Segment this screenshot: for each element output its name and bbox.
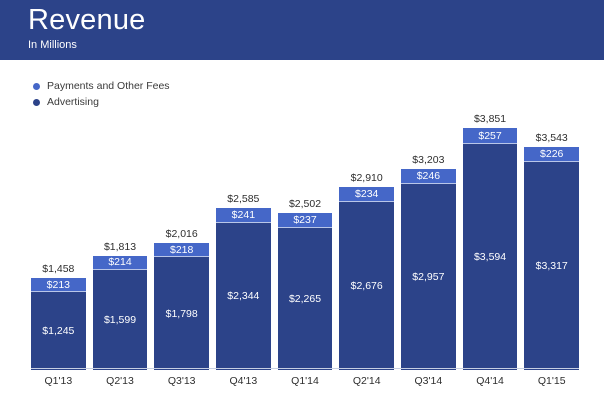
x-axis-tick-label: Q3'14 (401, 371, 456, 391)
bar-column[interactable]: $3,851$257$3,594 (463, 112, 518, 370)
dot-icon (33, 99, 40, 106)
bar-column[interactable]: $3,543$226$3,317 (524, 112, 579, 370)
chart-plot-area: $1,458$213$1,245$1,813$214$1,599$2,016$2… (0, 112, 604, 370)
chart-header: Revenue In Millions (0, 0, 604, 60)
bar-column[interactable]: $2,585$241$2,344 (216, 112, 271, 370)
bar-segment-payments[interactable]: $218 (154, 243, 209, 257)
bar-column[interactable]: $3,203$246$2,957 (401, 112, 456, 370)
x-axis-labels: Q1'13Q2'13Q3'13Q4'13Q1'14Q2'14Q3'14Q4'14… (31, 371, 579, 391)
x-axis-tick-label: Q1'13 (31, 371, 86, 391)
page-title: Revenue (28, 4, 604, 37)
dot-icon (33, 83, 40, 90)
legend-item-label: Payments and Other Fees (47, 78, 170, 94)
bar-total-label: $2,502 (278, 198, 333, 211)
x-axis-tick-label: Q4'13 (216, 371, 271, 391)
bar-total-label: $2,016 (154, 228, 209, 241)
x-axis-tick-label: Q4'14 (463, 371, 518, 391)
bar-total-label: $2,910 (339, 172, 394, 185)
x-axis-tick-label: Q2'14 (339, 371, 394, 391)
x-axis-tick-label: Q2'13 (93, 371, 148, 391)
bar-segment-advertising[interactable]: $1,245 (31, 292, 86, 370)
bar-segment-advertising[interactable]: $2,957 (401, 184, 456, 370)
bar-segment-advertising[interactable]: $2,265 (278, 228, 333, 370)
bar-total-label: $2,585 (216, 193, 271, 206)
bar-segment-advertising[interactable]: $3,594 (463, 144, 518, 370)
bar-column[interactable]: $2,502$237$2,265 (278, 112, 333, 370)
page-subtitle: In Millions (28, 37, 604, 53)
bar-segment-payments[interactable]: $214 (93, 256, 148, 269)
bar-column[interactable]: $2,016$218$1,798 (154, 112, 209, 370)
x-axis-tick-label: Q1'15 (524, 371, 579, 391)
bar-segment-payments[interactable]: $213 (31, 278, 86, 291)
x-axis-tick-label: Q1'14 (278, 371, 333, 391)
bar-segment-payments[interactable]: $234 (339, 187, 394, 202)
bar-segment-advertising[interactable]: $3,317 (524, 162, 579, 370)
bar-group: $1,458$213$1,245$1,813$214$1,599$2,016$2… (31, 112, 579, 370)
bar-total-label: $3,543 (524, 132, 579, 145)
x-axis-tick-label: Q3'13 (154, 371, 209, 391)
bar-segment-payments[interactable]: $237 (278, 213, 333, 228)
x-axis-line (31, 368, 579, 369)
bar-total-label: $3,851 (463, 113, 518, 126)
bar-total-label: $1,813 (93, 241, 148, 254)
bar-segment-advertising[interactable]: $2,676 (339, 202, 394, 370)
bar-column[interactable]: $1,813$214$1,599 (93, 112, 148, 370)
bar-column[interactable]: $1,458$213$1,245 (31, 112, 86, 370)
legend-item-label: Advertising (47, 94, 99, 110)
bar-total-label: $1,458 (31, 263, 86, 276)
bar-segment-advertising[interactable]: $1,798 (154, 257, 209, 370)
bar-column[interactable]: $2,910$234$2,676 (339, 112, 394, 370)
bar-segment-payments[interactable]: $226 (524, 147, 579, 161)
bar-total-label: $3,203 (401, 154, 456, 167)
bar-segment-payments[interactable]: $241 (216, 208, 271, 223)
bar-segment-advertising[interactable]: $1,599 (93, 270, 148, 370)
bar-segment-payments[interactable]: $257 (463, 128, 518, 144)
bar-segment-advertising[interactable]: $2,344 (216, 223, 271, 370)
legend-item-advertising: Advertising (33, 94, 170, 110)
legend-item-payments: Payments and Other Fees (33, 78, 170, 94)
bar-segment-payments[interactable]: $246 (401, 169, 456, 184)
chart-legend: Payments and Other Fees Advertising (33, 78, 170, 110)
